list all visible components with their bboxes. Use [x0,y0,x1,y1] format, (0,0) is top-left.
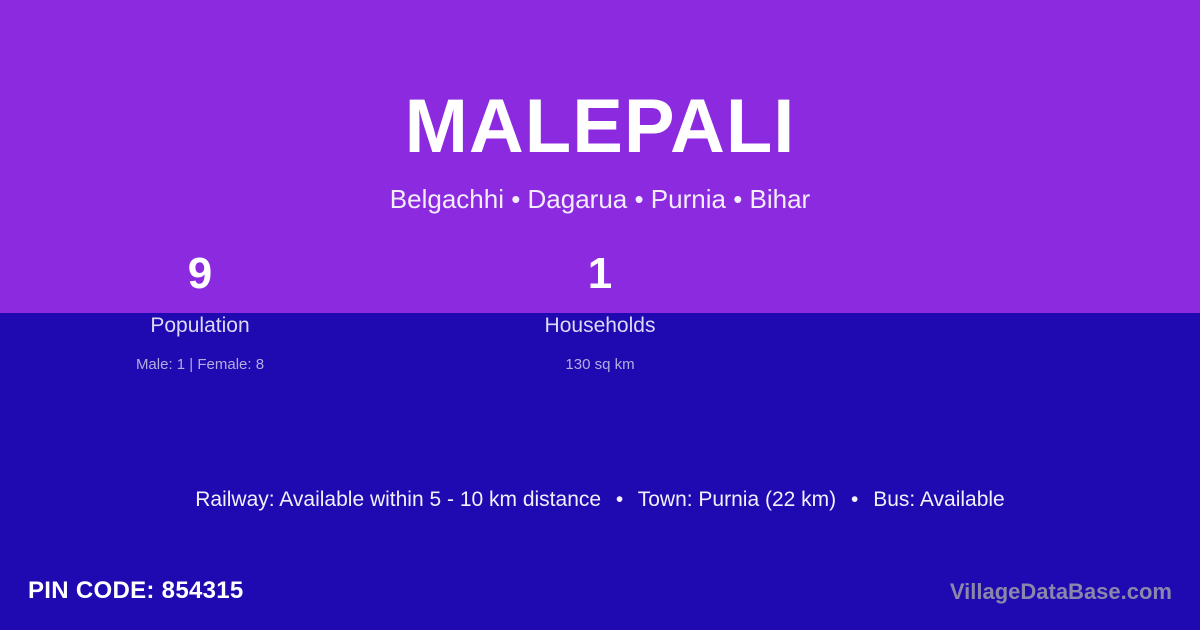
stat-population: 9 Population Male: 1 | Female: 8 [0,246,400,376]
stat-value-households: 1 [400,246,800,302]
site-brand: VillageDataBase.com [950,576,1172,608]
stats-row: 9 Population Male: 1 | Female: 8 1 House… [0,246,1200,376]
card-content: MALEPALI Belgachhi • Dagarua • Purnia • … [0,0,1200,630]
pin-code-label: PIN CODE: 854315 [28,574,244,608]
stat-value-population: 9 [0,246,400,302]
facility-town: Town: Purnia (22 km) [638,488,836,511]
facility-bus: Bus: Available [873,488,1005,511]
stat-households: 1 Households 130 sq km [400,246,800,376]
facility-separator-1: • [607,486,632,514]
stat-sub-households: 130 sq km [400,354,800,376]
breadcrumb: Belgachhi • Dagarua • Purnia • Bihar [0,182,1200,216]
page-title: MALEPALI [0,84,1200,170]
facility-separator-2: • [842,486,867,514]
card-footer: PIN CODE: 854315 VillageDataBase.com [0,574,1200,610]
stat-label-population: Population [0,311,400,341]
village-info-card: MALEPALI Belgachhi • Dagarua • Purnia • … [0,0,1200,630]
facilities-row: Railway: Available within 5 - 10 km dist… [0,486,1200,514]
facility-railway: Railway: Available within 5 - 10 km dist… [195,488,601,511]
stat-label-households: Households [400,311,800,341]
stat-sub-population: Male: 1 | Female: 8 [0,354,400,376]
stat-empty-slot [800,246,1200,376]
